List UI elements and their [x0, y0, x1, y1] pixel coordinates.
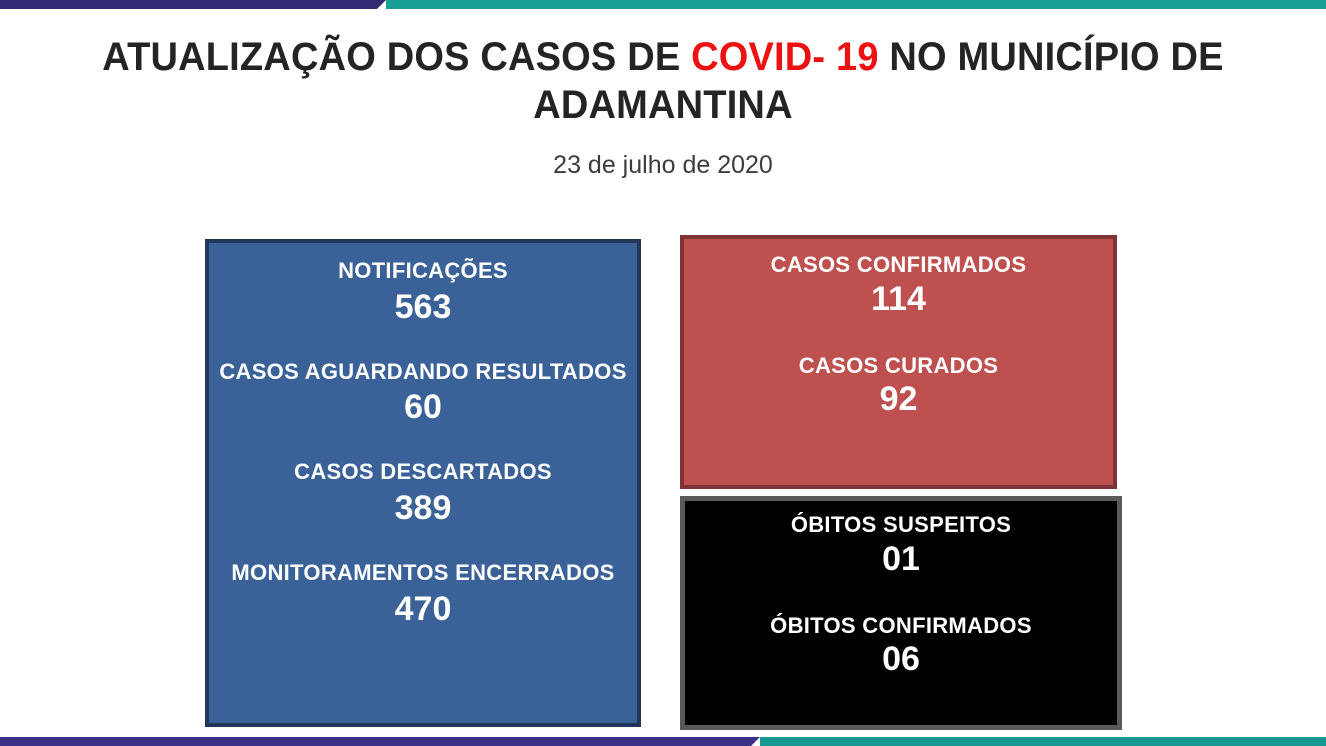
- stat-obitos-suspeitos-value: 01: [791, 540, 1011, 578]
- page-title-part-1: ATUALIZAÇÃO DOS CASOS DE: [102, 35, 691, 79]
- stat-obitos-suspeitos: ÓBITOS SUSPEITOS 01: [791, 513, 1011, 578]
- stat-notificacoes-label: NOTIFICAÇÕES: [338, 259, 508, 284]
- card-obitos-panel: ÓBITOS SUSPEITOS 01 ÓBITOS CONFIRMADOS 0…: [680, 496, 1122, 730]
- stat-casos-descartados-label: CASOS DESCARTADOS: [294, 460, 552, 485]
- stat-casos-descartados-value: 389: [294, 489, 552, 527]
- stat-obitos-suspeitos-label: ÓBITOS SUSPEITOS: [791, 513, 1011, 538]
- stat-casos-confirmados: CASOS CONFIRMADOS 114: [771, 253, 1027, 318]
- stat-monitoramentos-encerrados: MONITORAMENTOS ENCERRADOS 470: [231, 561, 614, 628]
- stat-obitos-confirmados-label: ÓBITOS CONFIRMADOS: [770, 614, 1032, 639]
- card-notificacoes-panel: NOTIFICAÇÕES 563 CASOS AGUARDANDO RESULT…: [205, 239, 641, 727]
- bottom-accent-purple-segment: [0, 737, 760, 746]
- top-accent-teal-segment: [386, 0, 1326, 9]
- stat-casos-curados-label: CASOS CURADOS: [799, 354, 998, 379]
- stat-casos-descartados: CASOS DESCARTADOS 389: [294, 460, 552, 527]
- stat-monitoramentos-encerrados-value: 470: [231, 590, 614, 628]
- stat-notificacoes-value: 563: [338, 288, 508, 326]
- stat-casos-aguardando-resultados-value: 60: [219, 388, 626, 426]
- stat-obitos-confirmados: ÓBITOS CONFIRMADOS 06: [770, 614, 1032, 679]
- stat-casos-curados-value: 92: [799, 380, 998, 418]
- bottom-accent-teal-segment: [760, 737, 1326, 746]
- stat-casos-curados: CASOS CURADOS 92: [799, 354, 998, 419]
- page-title: ATUALIZAÇÃO DOS CASOS DE COVID- 19 NO MU…: [33, 33, 1293, 129]
- heading-block: ATUALIZAÇÃO DOS CASOS DE COVID- 19 NO MU…: [0, 33, 1326, 180]
- report-date: 23 de julho de 2020: [0, 150, 1326, 180]
- bottom-accent-bar: [0, 737, 1326, 746]
- covid-update-slide: ATUALIZAÇÃO DOS CASOS DE COVID- 19 NO MU…: [0, 0, 1326, 746]
- page-title-covid-highlight: COVID- 19: [691, 35, 879, 79]
- top-accent-purple-segment: [0, 0, 386, 9]
- top-accent-bar: [0, 0, 1326, 9]
- stat-casos-aguardando-resultados-label: CASOS AGUARDANDO RESULTADOS: [219, 360, 626, 385]
- card-casos-confirmados-panel: CASOS CONFIRMADOS 114 CASOS CURADOS 92: [680, 235, 1117, 489]
- stat-obitos-confirmados-value: 06: [770, 640, 1032, 678]
- stat-casos-confirmados-value: 114: [771, 280, 1027, 318]
- stat-casos-aguardando-resultados: CASOS AGUARDANDO RESULTADOS 60: [219, 360, 626, 427]
- stat-monitoramentos-encerrados-label: MONITORAMENTOS ENCERRADOS: [231, 561, 614, 586]
- stat-casos-confirmados-label: CASOS CONFIRMADOS: [771, 253, 1027, 278]
- stat-notificacoes: NOTIFICAÇÕES 563: [338, 259, 508, 326]
